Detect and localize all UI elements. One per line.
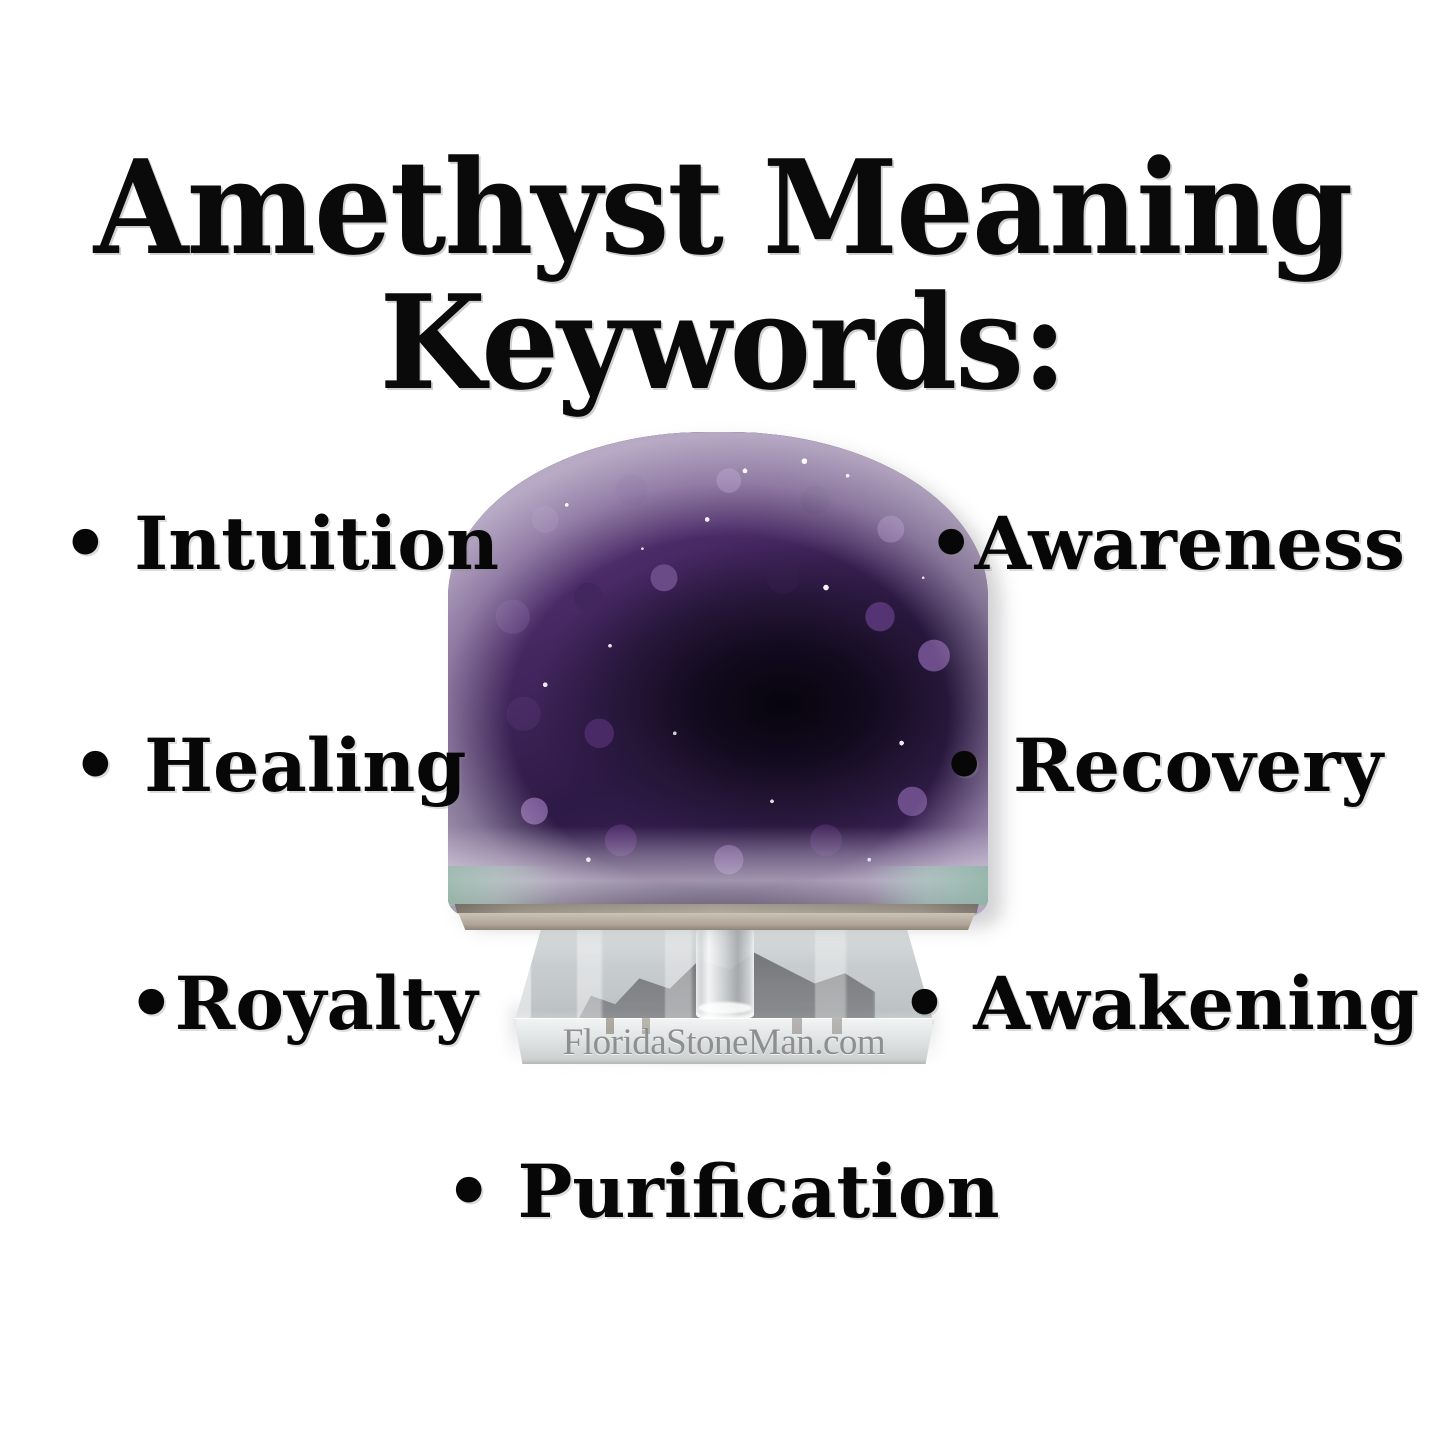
keyword-label: Intuition <box>134 501 499 587</box>
bullet-icon: • <box>901 961 973 1047</box>
title-line-1: Amethyst Meaning <box>43 140 1401 275</box>
keyword-intuition: • Intuition <box>62 508 499 581</box>
keyword-royalty: •Royalty <box>128 968 478 1041</box>
geode-base-underside <box>452 904 984 913</box>
keyword-label: Awakening <box>973 961 1419 1047</box>
keyword-purification: • Purification <box>0 1156 1445 1229</box>
bullet-icon: • <box>445 1149 517 1235</box>
amethyst-geode <box>448 432 988 918</box>
keyword-recovery: • Recovery <box>941 730 1383 803</box>
bullet-icon: • <box>941 723 1013 809</box>
geode-sparkle-glints <box>448 432 988 918</box>
poster-canvas: Amethyst Meaning Keywords: FloridaStoneM… <box>0 0 1445 1445</box>
keyword-awakening: • Awakening <box>901 968 1419 1041</box>
title-line-2: Keywords: <box>43 275 1401 410</box>
watermark-text: FloridaStoneMan.com <box>514 1024 934 1061</box>
keyword-label: Awareness <box>975 501 1405 587</box>
keyword-healing: • Healing <box>72 730 466 803</box>
page-title: Amethyst Meaning Keywords: <box>0 140 1445 410</box>
acrylic-display-stand: FloridaStoneMan.com <box>514 906 934 1066</box>
keyword-awareness: •Awareness <box>928 508 1405 581</box>
bullet-icon: • <box>928 501 975 587</box>
keyword-label: Healing <box>144 723 466 809</box>
bullet-icon: • <box>128 961 175 1047</box>
bullet-icon: • <box>72 723 144 809</box>
keyword-label: Recovery <box>1013 723 1383 809</box>
bullet-icon: • <box>62 501 134 587</box>
keyword-label: Purification <box>517 1149 999 1235</box>
keyword-label: Royalty <box>175 961 478 1047</box>
